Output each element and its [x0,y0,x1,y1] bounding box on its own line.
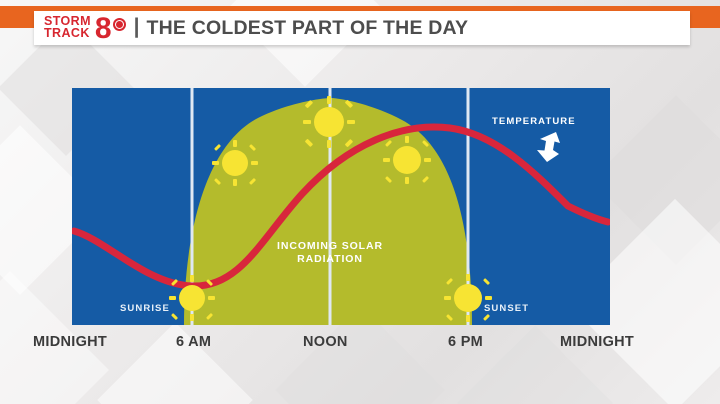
x-axis-label-noon: NOON [303,334,348,350]
title-row: STORM TRACK 8 | THE COLDEST PART OF THE … [34,11,468,45]
title-plate: STORM TRACK 8 | THE COLDEST PART OF THE … [34,11,690,45]
x-axis-label-6am: 6 AM [176,334,211,350]
storm-track-8-logo: STORM TRACK 8 [44,14,126,42]
weather-graphic: STORM TRACK 8 | THE COLDEST PART OF THE … [0,0,720,404]
temperature-label: TEMPERATURE [492,116,576,127]
title-divider: | [134,15,140,39]
logo-line-track: TRACK [44,28,91,40]
sunrise-label: SUNRISE [120,303,170,314]
solar-radiation-label: INCOMING SOLAR RADIATION [250,240,410,266]
sunset-label: SUNSET [484,303,529,314]
logo-channel-number: 8 [95,15,112,43]
x-axis-label-6pm: 6 PM [448,334,483,350]
x-axis-label-midnight-start: MIDNIGHT [33,334,107,350]
chart-container: INCOMING SOLAR RADIATION TEMPERATURE SUN… [72,88,610,325]
x-axis-label-midnight-end: MIDNIGHT [560,334,634,350]
page-title: THE COLDEST PART OF THE DAY [147,17,469,40]
logo-wordmark: STORM TRACK [44,16,91,40]
circle-badge-icon [113,18,126,31]
temperature-arrow-icon [531,130,563,164]
